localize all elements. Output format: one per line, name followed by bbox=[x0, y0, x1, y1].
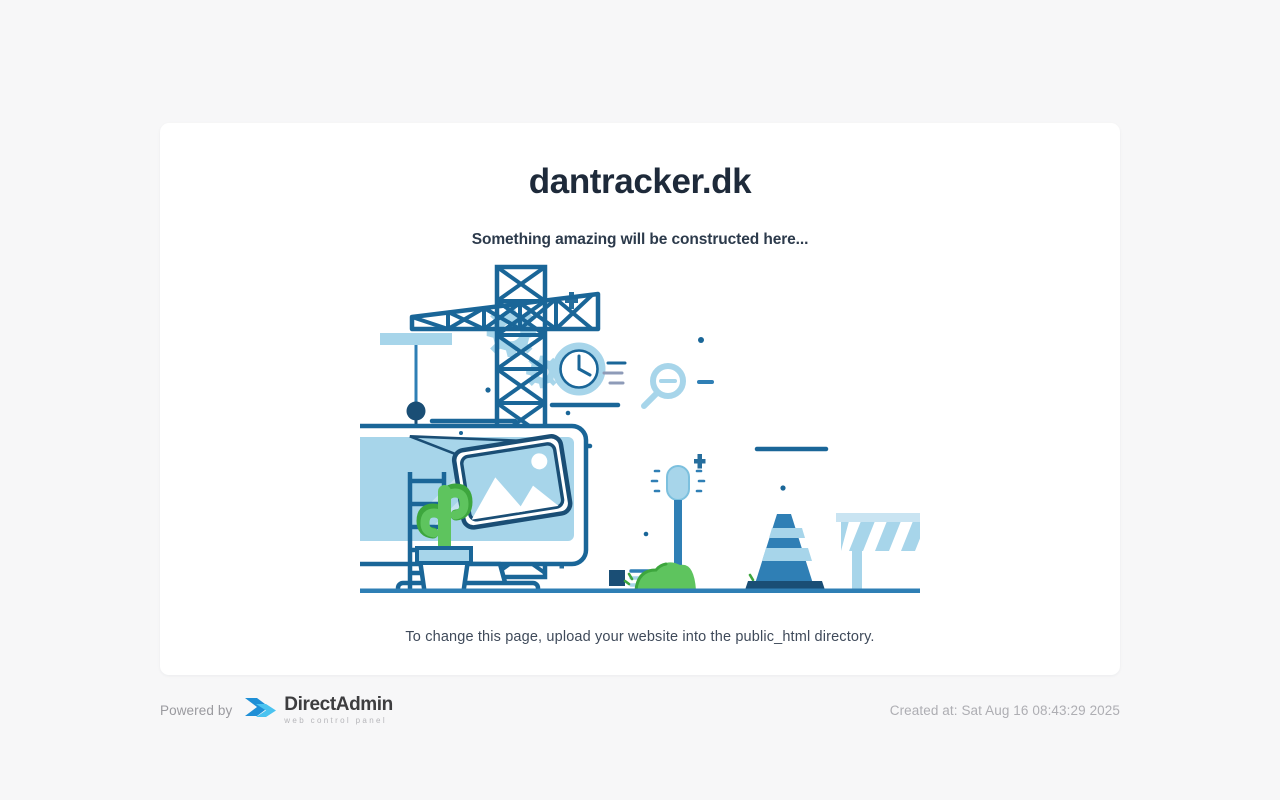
powered-by-block: Powered by DirectAdmin web control panel bbox=[160, 695, 393, 725]
directadmin-chevron-icon bbox=[243, 697, 277, 723]
page-subtitle: Something amazing will be constructed he… bbox=[472, 231, 809, 249]
content-card: dantracker.dk Something amazing will be … bbox=[160, 123, 1120, 675]
clock-icon bbox=[556, 346, 602, 392]
directadmin-wordmark: DirectAdmin web control panel bbox=[284, 695, 393, 725]
directadmin-logo[interactable]: DirectAdmin web control panel bbox=[243, 695, 393, 725]
clock-motion-lines bbox=[604, 363, 625, 383]
traffic-cone bbox=[745, 514, 825, 590]
crane-hook bbox=[380, 333, 452, 427]
directadmin-name: DirectAdmin bbox=[284, 695, 393, 714]
road-barrier bbox=[836, 513, 920, 590]
under-construction-illustration bbox=[360, 263, 920, 593]
page-footer: Powered by DirectAdmin web control panel… bbox=[160, 690, 1120, 730]
default-page: dantracker.dk Something amazing will be … bbox=[0, 0, 1280, 800]
magnifier-zoom-out-icon bbox=[644, 366, 683, 406]
directadmin-tagline: web control panel bbox=[284, 717, 393, 725]
upload-instructions: To change this page, upload your website… bbox=[160, 629, 1120, 645]
page-title: dantracker.dk bbox=[529, 162, 751, 202]
powered-by-label: Powered by bbox=[160, 703, 232, 718]
created-at-label: Created at: Sat Aug 16 08:43:29 2025 bbox=[890, 703, 1120, 718]
